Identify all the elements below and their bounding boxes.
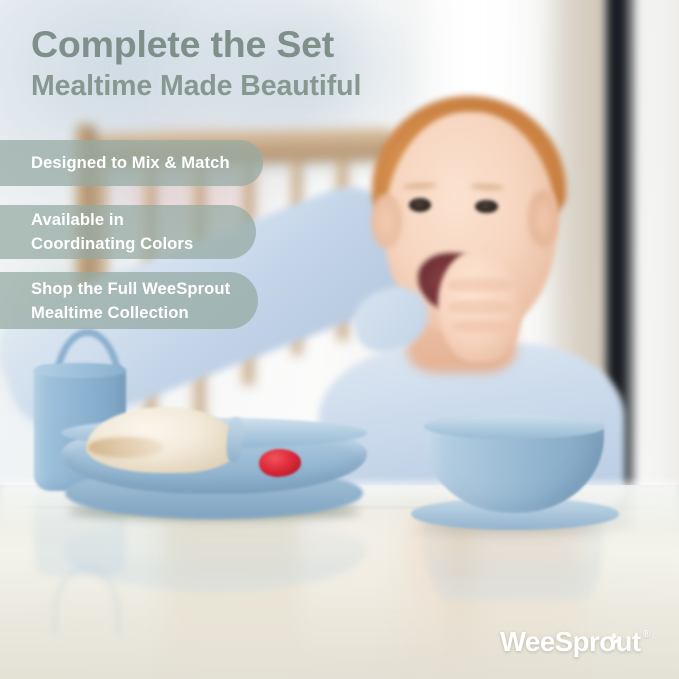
feature-badge-full-collection: Shop the Full WeeSprout Mealtime Collect… <box>0 272 258 329</box>
page-subtitle: Mealtime Made Beautiful <box>31 71 361 102</box>
feature-badge-mix-and-match: Designed to Mix & Match <box>0 140 263 186</box>
product-lifestyle-banner: Complete the Set Mealtime Made Beautiful… <box>0 0 679 679</box>
marketing-overlay: Complete the Set Mealtime Made Beautiful… <box>0 0 679 679</box>
page-title: Complete the Set <box>31 24 334 65</box>
feature-badge-coordinating-colors: Available in Coordinating Colors <box>0 205 256 259</box>
sprout-icon <box>604 631 624 651</box>
brand-logo: WeeSprout ® <box>500 628 650 656</box>
registered-trademark-mark: ® <box>643 630 650 640</box>
